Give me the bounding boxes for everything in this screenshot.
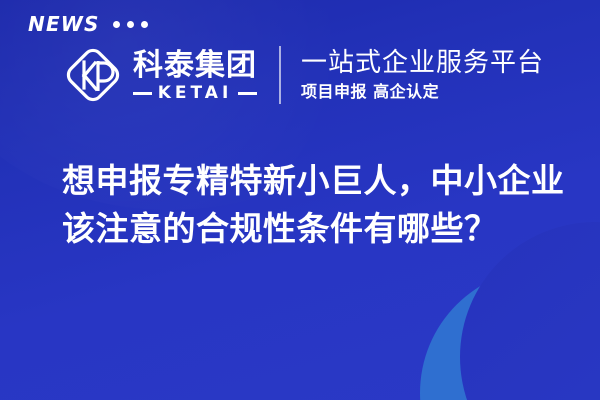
brand-name-en: KETAI	[158, 85, 233, 102]
brand-name-en-row: KETAI	[133, 85, 257, 102]
headline: 想申报专精特新小巨人，中小企业 该注意的合规性条件有哪些？	[62, 157, 567, 253]
brand-name-cn: 科泰集团	[133, 50, 257, 82]
ketai-logo-icon	[62, 44, 124, 106]
brand-wordmark: 科泰集团 KETAI	[133, 48, 257, 102]
headline-line-1: 想申报专精特新小巨人，中小企业	[62, 157, 567, 205]
tagline-block: 一站式企业服务平台 项目申报 高企认定	[301, 48, 544, 103]
dot-icon	[113, 21, 120, 28]
dot-icon	[141, 21, 148, 28]
rule-right	[238, 92, 257, 95]
brand-lockup: 科泰集团 KETAI 一站式企业服务平台 项目申报 高企认定	[62, 44, 544, 106]
eyebrow: NEWS	[28, 14, 148, 34]
dot-icon	[127, 21, 134, 28]
brand-identity: 科泰集团 KETAI	[62, 44, 257, 106]
brand-divider	[279, 46, 281, 104]
headline-line-2: 该注意的合规性条件有哪些？	[62, 205, 567, 253]
news-banner: NEWS	[0, 0, 600, 400]
eyebrow-dots-icon	[113, 21, 148, 28]
tagline-main: 一站式企业服务平台	[301, 48, 544, 79]
tagline-sub: 项目申报 高企认定	[301, 82, 544, 102]
news-label: NEWS	[28, 14, 100, 34]
rule-left	[133, 92, 152, 95]
